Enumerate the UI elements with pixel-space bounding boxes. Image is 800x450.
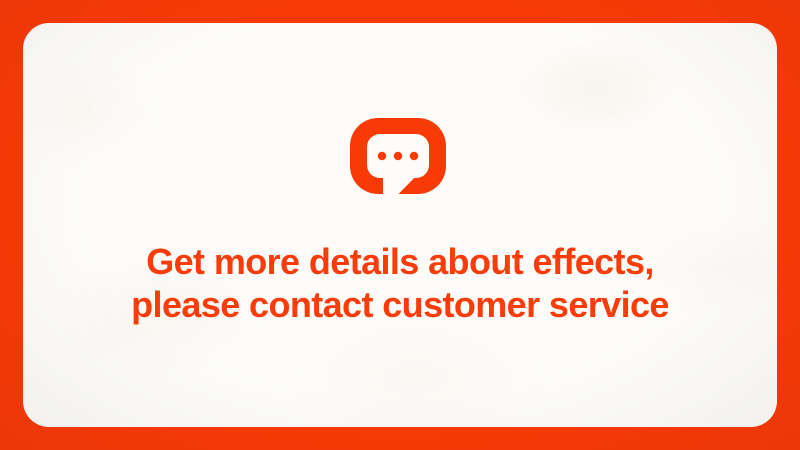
- message-line-2: please contact customer service: [131, 283, 669, 326]
- card-content: Get more details about effects, please c…: [131, 118, 669, 326]
- screen-root: Get more details about effects, please c…: [0, 0, 800, 450]
- chat-bubble-icon: [345, 118, 455, 218]
- message-headline: Get more details about effects, please c…: [131, 240, 669, 326]
- message-card: Get more details about effects, please c…: [23, 23, 777, 427]
- message-line-1: Get more details about effects,: [131, 240, 669, 283]
